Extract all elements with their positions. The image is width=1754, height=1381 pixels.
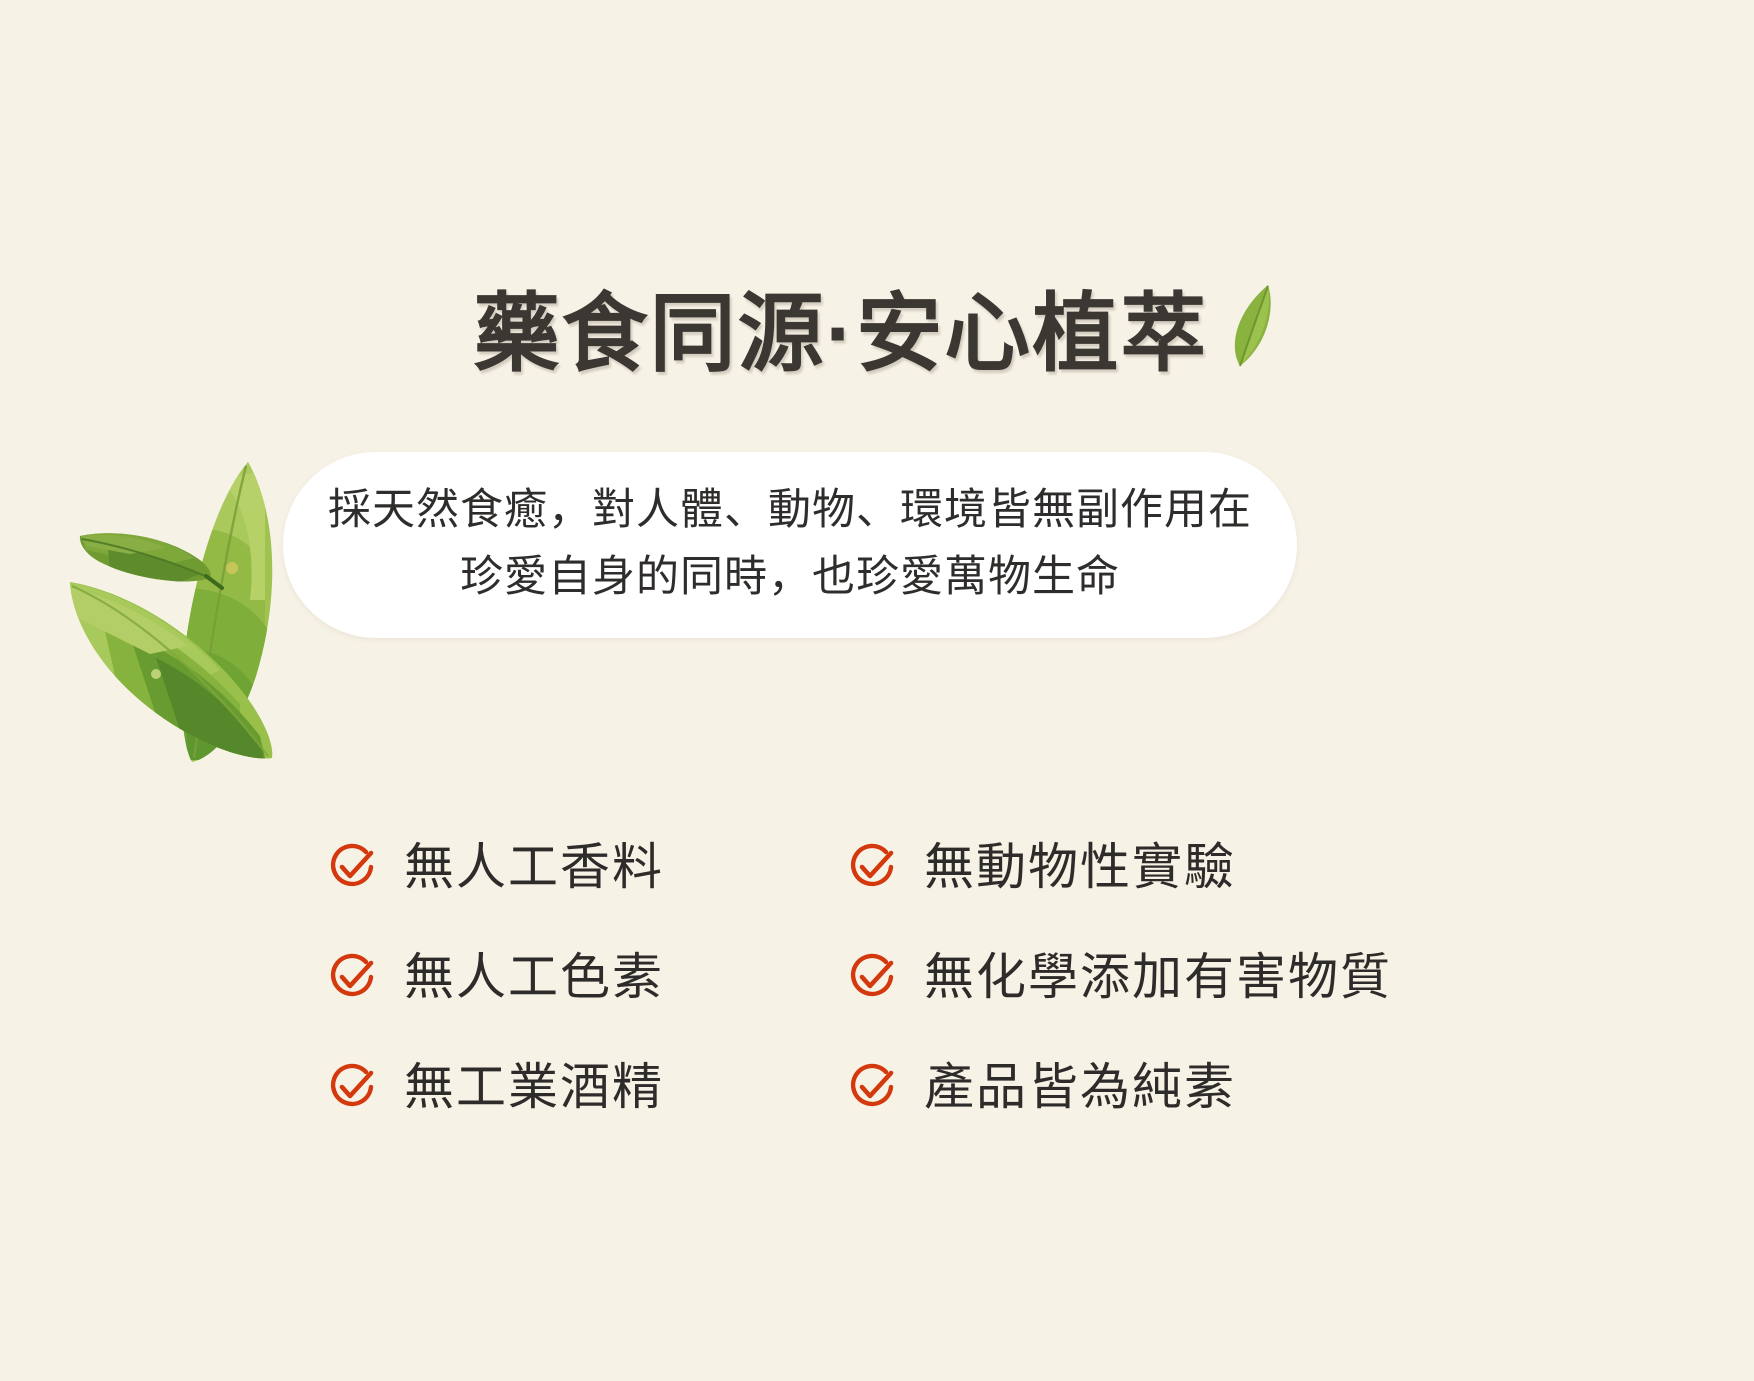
circle-check-icon [326, 841, 378, 893]
checklist-item-label: 無化學添加有害物質 [924, 952, 1392, 1002]
checklist-item[interactable]: 產品皆為純素 [846, 1061, 1456, 1113]
checklist-item-label: 無動物性實驗 [924, 842, 1236, 892]
feature-checklist: 無人工香料 無動物性實驗 無人工色素 [326, 812, 1456, 1142]
checklist-item[interactable]: 無工業酒精 [326, 1061, 846, 1113]
checklist-item-label: 無人工香料 [404, 842, 664, 892]
circle-check-icon [846, 1061, 898, 1113]
page-title: 藥食同源·安心植萃 [0, 288, 1754, 380]
checklist-item-label: 產品皆為純素 [924, 1062, 1236, 1112]
checklist-item[interactable]: 無人工色素 [326, 951, 846, 1003]
checklist-item[interactable]: 無人工香料 [326, 841, 846, 893]
page-title-text: 藥食同源·安心植萃 [474, 289, 1209, 379]
description-line-2: 珍愛自身的同時，也珍愛萬物生命 [460, 545, 1120, 612]
checklist-item[interactable]: 無動物性實驗 [846, 841, 1456, 893]
circle-check-icon [326, 951, 378, 1003]
circle-check-icon [846, 951, 898, 1003]
circle-check-icon [846, 841, 898, 893]
promo-banner: 藥食同源·安心植萃 採天然食癒，對人體、動物、環境皆無副作用在 珍愛自身的同時，… [0, 0, 1754, 1381]
checklist-item[interactable]: 無化學添加有害物質 [846, 951, 1456, 1003]
leaf-shape-large [160, 440, 300, 770]
leaf-shape-small [60, 520, 220, 600]
description-line-1: 採天然食癒，對人體、動物、環境皆無副作用在 [328, 478, 1252, 545]
leaf-icon [1218, 280, 1280, 372]
checklist-item-label: 無人工色素 [404, 952, 664, 1002]
leaf-shape-lower [60, 560, 290, 770]
circle-check-icon [326, 1061, 378, 1113]
description-card: 採天然食癒，對人體、動物、環境皆無副作用在 珍愛自身的同時，也珍愛萬物生命 [283, 452, 1297, 638]
checklist-item-label: 無工業酒精 [404, 1062, 664, 1112]
